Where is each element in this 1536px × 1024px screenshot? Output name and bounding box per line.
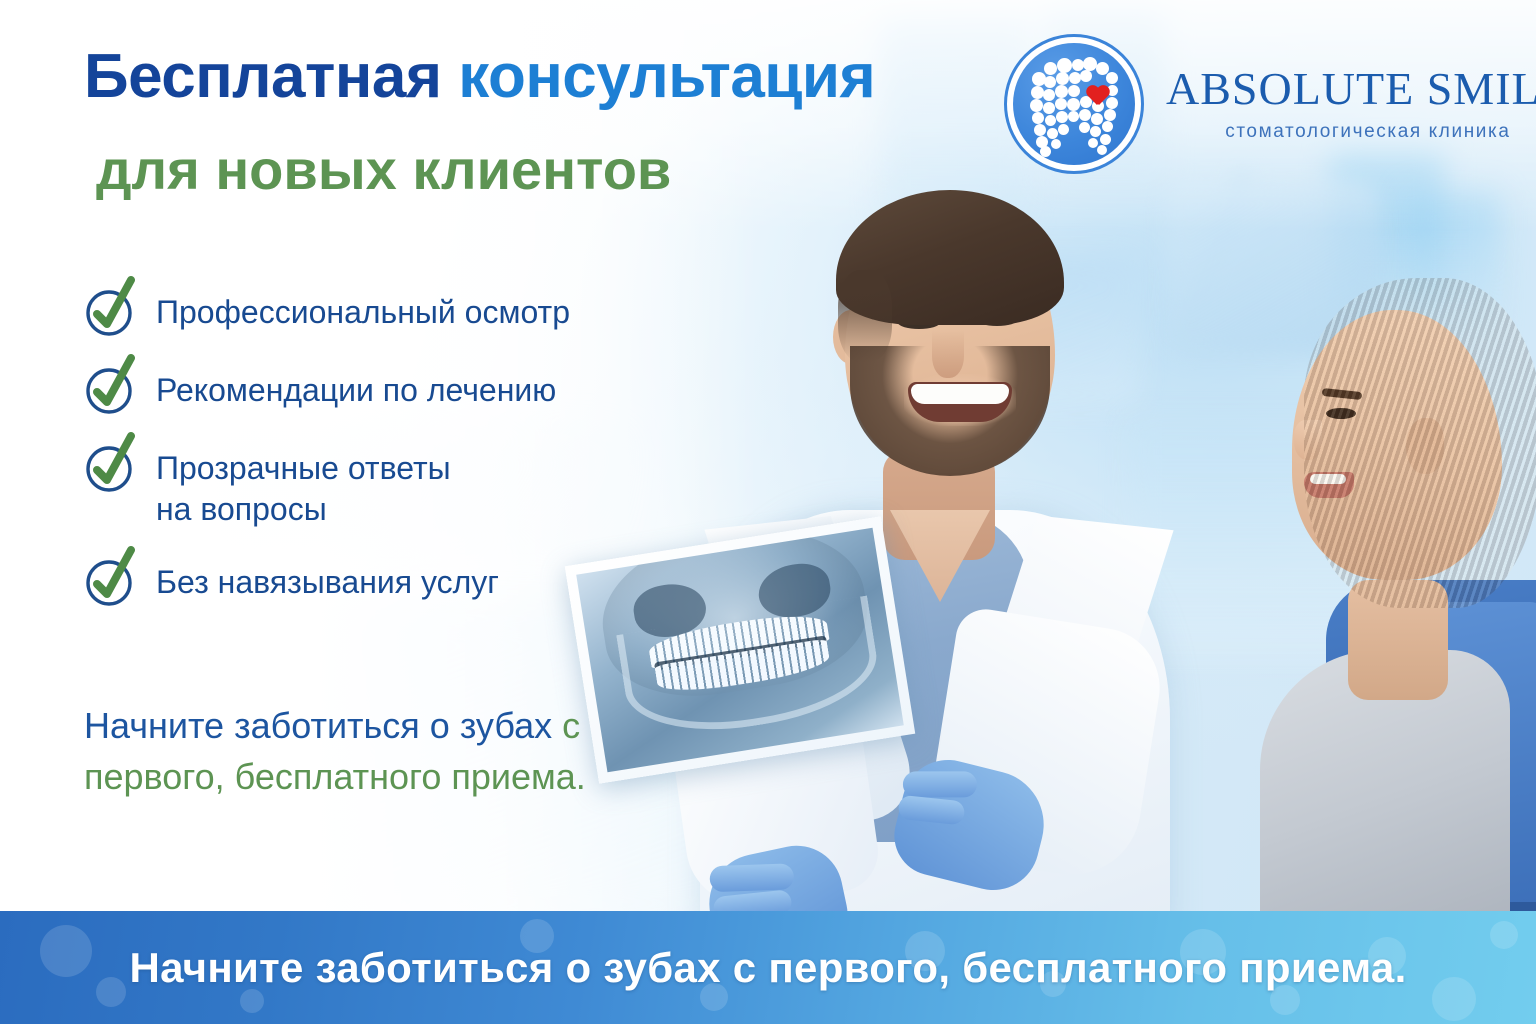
glove-finger	[897, 795, 965, 826]
list-item: Профессиональный осмотр	[84, 286, 744, 338]
glove-finger	[903, 771, 977, 797]
check-circle-icon	[84, 554, 138, 608]
cta-blue-part: Начните заботиться о зубах	[84, 705, 552, 746]
clinic-logo[interactable]: ABSOLUTE SMILE стоматологическая клиника	[1004, 34, 1536, 174]
list-item: Без навязывания услуг	[84, 556, 744, 608]
patient-hair-strands	[1304, 278, 1536, 608]
dental-clinic-promo-poster: Бесплатная консультация для новых клиент…	[0, 0, 1536, 1024]
headline-line-2: для новых клиентов	[96, 142, 984, 198]
logo-heart-icon	[1086, 86, 1110, 108]
check-circle-icon	[84, 284, 138, 338]
list-item-label: Профессиональный осмотр	[156, 286, 570, 333]
list-item-label: Без навязывания услуг	[156, 556, 499, 603]
dentist-teeth	[911, 384, 1009, 404]
list-item: Рекомендации по лечению	[84, 364, 744, 416]
logo-tagline: стоматологическая клиника	[1225, 121, 1510, 143]
headline-block: Бесплатная консультация для новых клиент…	[84, 46, 984, 198]
logo-tooth-bubbles	[1030, 56, 1118, 152]
glove-finger	[709, 863, 794, 892]
list-item-label: Рекомендации по лечению	[156, 364, 556, 411]
banner-text: Начните заботиться о зубах с первого, бе…	[0, 911, 1536, 1024]
dentist-nose	[932, 330, 964, 378]
check-circle-icon	[84, 440, 138, 494]
check-circle-icon	[84, 362, 138, 416]
logo-brand-name: ABSOLUTE SMILE	[1166, 66, 1536, 112]
dentist-hair-sideburn	[838, 270, 892, 362]
tooth-heart-icon	[1004, 34, 1144, 174]
call-to-action-text: Начните заботиться о зубах с первого, бе…	[84, 700, 704, 802]
headline-word-consultation: консультация	[458, 42, 875, 111]
bottom-banner: Начните заботиться о зубах с первого, бе…	[0, 911, 1536, 1024]
patient-hair	[1304, 278, 1536, 608]
list-item-label: Прозрачные ответы на вопросы	[156, 442, 451, 530]
headline-word-free: Бесплатная	[84, 42, 442, 111]
list-item: Прозрачные ответы на вопросы	[84, 442, 744, 530]
dentist-smile	[908, 382, 1012, 422]
logo-text: ABSOLUTE SMILE стоматологическая клиника	[1166, 66, 1536, 143]
benefits-list: Профессиональный осмотр Рекомендации по …	[84, 286, 744, 634]
headline-line-1: Бесплатная консультация	[84, 46, 984, 108]
